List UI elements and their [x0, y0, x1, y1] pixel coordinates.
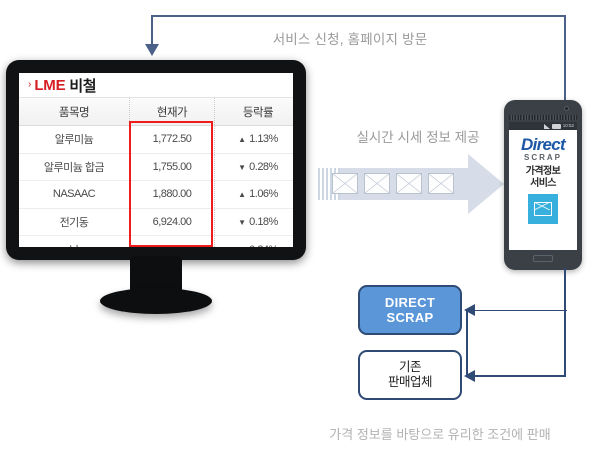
change-value: 0.34% [249, 244, 278, 247]
middle-flow-label: 실시간 시세 정보 제공 [318, 126, 518, 146]
arrow-down-icon: ▼ [238, 163, 245, 172]
bottom-connector-to-existing [475, 375, 566, 377]
arrowhead-left-existing-icon [464, 370, 475, 382]
smartphone: 10:52 Direct SCRAP 가격정보 서비스 [504, 100, 582, 270]
bottom-flow-label: 가격 정보를 바탕으로 유리한 조건에 판매 [280, 424, 600, 443]
top-connector-vertical-right [564, 15, 566, 103]
cell-change: ▼ 0.28% [215, 153, 294, 181]
cell-name: 알루미늄 [19, 126, 130, 154]
arrow-up-icon: ▲ [238, 135, 245, 144]
box-existing-line2: 판매업체 [388, 375, 432, 390]
table-row: 알루미늄 합금1,755.00▼ 0.28% [19, 153, 293, 181]
table-header-row: 품목명 현재가 등락률 [19, 98, 293, 126]
phone-status-bar: 10:52 [509, 122, 577, 130]
top-flow-label: 서비스 신청, 홈페이지 방문 [200, 28, 500, 48]
bottom-connector-branch-vertical [466, 310, 468, 376]
cell-change: ▼ 0.18% [215, 208, 294, 236]
battery-icon [552, 124, 561, 129]
cell-name: NASAAC [19, 181, 130, 209]
arrow-down-icon: ▼ [238, 218, 245, 227]
envelope-icon [364, 173, 390, 194]
box-direct-scrap[interactable]: DIRECT SCRAP [358, 285, 462, 335]
lme-panel-title: › LME 비철 [19, 73, 293, 98]
table-body: 알루미늄1,772.50▲ 1.13%알루미늄 합금1,755.00▼ 0.28… [19, 126, 293, 248]
cell-change: ▼ 0.34% [215, 236, 294, 247]
cell-change: ▲ 1.06% [215, 181, 294, 209]
change-value: 0.18% [249, 216, 278, 228]
monitor: › LME 비철 품목명 현재가 등락률 알루미늄1,772.50▲ 1.13%… [6, 60, 306, 260]
status-clock: 10:52 [563, 124, 574, 129]
signal-icon [544, 124, 550, 129]
cell-price: 6,924.00 [130, 208, 215, 236]
column-header-change: 등락률 [215, 98, 294, 126]
app-logo: Direct SCRAP [509, 136, 577, 162]
change-value: 1.13% [249, 133, 278, 145]
mail-app-button[interactable] [528, 194, 558, 224]
table-row: NASAAC1,880.00▲ 1.06% [19, 181, 293, 209]
cell-name: 알루미늄 합금 [19, 153, 130, 181]
lme-price-table: 품목명 현재가 등락률 알루미늄1,772.50▲ 1.13%알루미늄 합금1,… [19, 98, 293, 247]
top-arrowhead-down-icon [145, 44, 159, 56]
envelope-icon-row [332, 173, 464, 194]
arrow-down-icon: ▼ [238, 246, 245, 247]
cell-price: 1,755.00 [130, 153, 215, 181]
box-direct-scrap-line2: SCRAP [385, 310, 435, 325]
envelope-icon [534, 202, 552, 216]
phone-screen: 10:52 Direct SCRAP 가격정보 서비스 [509, 122, 577, 250]
bottom-connector-to-direct-scrap [475, 310, 567, 311]
table-row: 납2,037.50▼ 0.34% [19, 236, 293, 247]
monitor-screen: › LME 비철 품목명 현재가 등락률 알루미늄1,772.50▲ 1.13%… [19, 73, 293, 247]
cell-name: 전기동 [19, 208, 130, 236]
cell-name: 납 [19, 236, 130, 247]
column-header-name: 품목명 [19, 98, 130, 126]
phone-home-button[interactable] [533, 255, 553, 262]
arrowhead-left-direct-scrap-icon [464, 304, 475, 316]
cell-price: 1,772.50 [130, 126, 215, 154]
lme-title-sub: 비철 [69, 75, 96, 96]
envelope-icon [428, 173, 454, 194]
cell-price: 2,037.50 [130, 236, 215, 247]
phone-camera-icon [564, 106, 569, 111]
data-flow-arrowhead-icon [468, 154, 504, 214]
monitor-stand-base [100, 288, 212, 314]
column-header-price: 현재가 [130, 98, 215, 126]
change-value: 1.06% [249, 188, 278, 200]
lme-title-main: LME [34, 77, 65, 94]
table-row: 알루미늄1,772.50▲ 1.13% [19, 126, 293, 154]
phone-speaker-grille [509, 115, 577, 120]
app-logo-main: Direct [509, 136, 577, 153]
cell-price: 1,880.00 [130, 181, 215, 209]
box-direct-scrap-line1: DIRECT [385, 295, 435, 310]
arrow-up-icon: ▲ [238, 190, 245, 199]
bottom-connector-vertical-main [564, 268, 566, 376]
app-heading-line2: 서비스 [509, 178, 577, 190]
chevron-right-icon: › [28, 80, 31, 90]
app-logo-sub: SCRAP [509, 154, 577, 162]
change-value: 0.28% [249, 161, 278, 173]
envelope-icon [396, 173, 422, 194]
app-heading: 가격정보 서비스 [509, 166, 577, 190]
envelope-icon [332, 173, 358, 194]
box-existing-line1: 기존 [388, 360, 432, 375]
top-connector-horizontal [151, 15, 566, 17]
diagram-canvas: 서비스 신청, 홈페이지 방문 › LME 비철 품목명 현재가 등락률 알루미… [0, 0, 600, 450]
cell-change: ▲ 1.13% [215, 126, 294, 154]
app-heading-line1: 가격정보 [509, 166, 577, 178]
table-row: 전기동6,924.00▼ 0.18% [19, 208, 293, 236]
box-existing-seller[interactable]: 기존 판매업체 [358, 350, 462, 400]
